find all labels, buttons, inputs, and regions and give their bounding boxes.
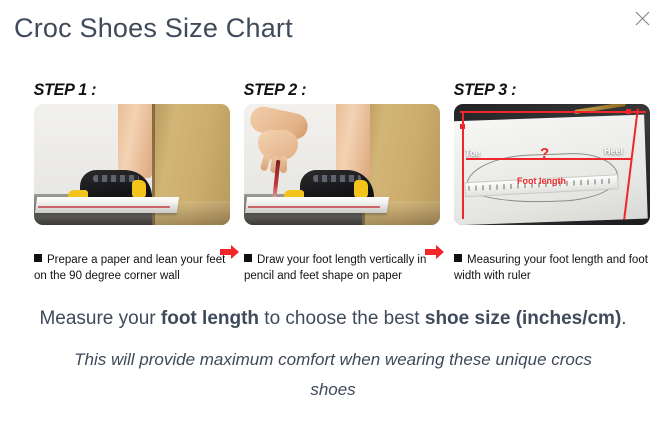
close-icon <box>635 11 650 26</box>
step-3-label: STEP 3 : <box>446 78 644 104</box>
step-1-caption-text: Prepare a paper and lean your feet on th… <box>34 254 225 282</box>
annotation-line-top <box>460 111 646 113</box>
bullet-square-icon <box>34 254 42 262</box>
step-2-photo <box>244 104 440 225</box>
floor-reflection <box>244 201 440 225</box>
floor-reflection <box>34 201 230 225</box>
step-1: STEP 1 : <box>26 78 234 225</box>
measure-suffix: . <box>621 308 626 329</box>
size-chart-modal: Croc Shoes Size Chart STEP 1 : <box>0 0 666 432</box>
comfort-note: This will provide maximum comfort when w… <box>60 345 606 405</box>
leg <box>336 104 370 178</box>
label-question: ? <box>540 145 549 162</box>
step-2-caption: Draw your foot length vertically in penc… <box>244 252 440 284</box>
measure-instruction: Measure your foot length to choose the b… <box>0 305 666 333</box>
step-2: STEP 2 : <box>236 78 444 225</box>
step-2-label: STEP 2 : <box>236 78 434 104</box>
annotation-corner-left <box>460 124 465 129</box>
annotation-corner-right <box>626 109 631 114</box>
sock-heel <box>354 180 368 198</box>
step-3-caption: Measuring your foot length and foot widt… <box>454 252 650 284</box>
step-1-label: STEP 1 : <box>26 78 224 104</box>
finger <box>280 156 287 173</box>
measure-bold-foot-length: foot length <box>161 308 259 329</box>
page-title: Croc Shoes Size Chart <box>14 8 293 48</box>
step-3: STEP 3 : Toe Heel ? Foot length <box>446 78 654 225</box>
step-1-caption: Prepare a paper and lean your feet on th… <box>34 252 230 284</box>
step-3-caption-text: Measuring your foot length and foot widt… <box>454 254 648 282</box>
label-foot-length: Foot length <box>517 176 566 186</box>
bullet-square-icon <box>454 254 462 262</box>
measure-middle: to choose the best <box>259 308 425 329</box>
label-heel: Heel <box>604 146 623 156</box>
measure-bold-shoe-size: shoe size (inches/cm) <box>425 308 621 329</box>
step-2-caption-text: Draw your foot length vertically in penc… <box>244 254 426 282</box>
measure-prefix: Measure your <box>39 308 160 329</box>
step-3-photo: Toe Heel ? Foot length <box>454 104 650 225</box>
sock-heel <box>132 180 146 198</box>
paper-sheet <box>454 115 648 225</box>
step-1-photo <box>34 104 230 225</box>
label-toe: Toe <box>465 148 480 158</box>
bullet-square-icon <box>244 254 252 262</box>
leg <box>118 104 152 178</box>
close-button[interactable] <box>628 4 656 32</box>
